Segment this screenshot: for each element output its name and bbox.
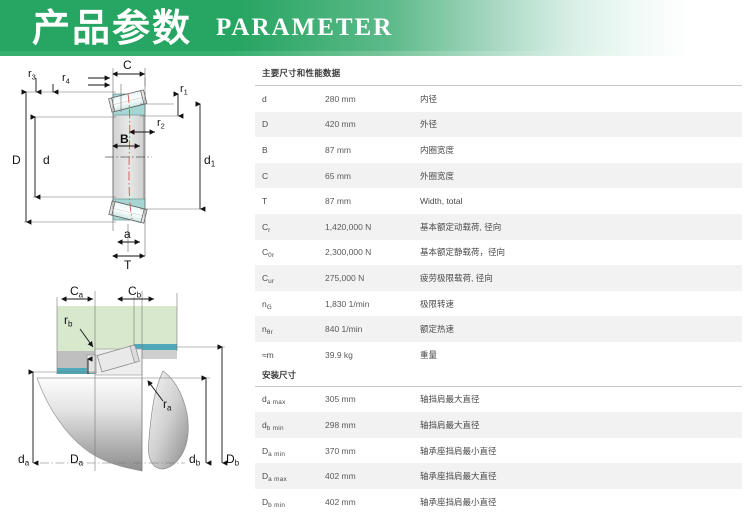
spec-description: 额定热速 <box>420 323 742 335</box>
spec-symbol: Cur <box>255 273 325 283</box>
spec-row: ≈m39.9 kg重量 <box>255 342 742 368</box>
spec-description: 轴承座挡肩最小直径 <box>420 496 742 508</box>
spec-row: Cr1,420,000 N基本额定动载荷, 径向 <box>255 214 742 240</box>
label-r3: r3 <box>28 68 36 82</box>
spec-description: 内径 <box>420 93 742 105</box>
spec-symbol: C0r <box>255 247 325 257</box>
spec-description: 外圈宽度 <box>420 170 742 182</box>
spec-value: 402 mm <box>325 497 420 507</box>
spec-description: 疲劳极限载荷, 径向 <box>420 272 742 284</box>
spec-row: db min298 mm轴挡肩最大直径 <box>255 412 742 438</box>
label-db: db <box>189 452 201 468</box>
spec-description: 极限转速 <box>420 298 742 310</box>
spec-symbol: C <box>255 171 325 181</box>
page-header-banner: 产品参数 PARAMETER <box>0 0 750 56</box>
label-a: a <box>124 227 131 241</box>
spec-row: d280 mm内径 <box>255 86 742 112</box>
spec-section-title-mounting: 安装尺寸 <box>255 368 742 386</box>
spec-symbol: db min <box>255 420 325 430</box>
bearing-cross-section-drawing: r3 r4 C r1 r2 B D d d1 a T <box>0 56 250 271</box>
spec-symbol: Cr <box>255 222 325 232</box>
spec-row: C0r2,300,000 N基本额定静载荷，径向 <box>255 240 742 266</box>
spec-rows-mounting: da max305 mm轴挡肩最大直径db min298 mm轴挡肩最大直径Da… <box>255 387 742 515</box>
specification-table: 主要尺寸和性能数据 d280 mm内径D420 mm外径B87 mm内圈宽度C6… <box>255 62 742 515</box>
spec-description: 轴承座挡肩最小直径 <box>420 445 742 457</box>
spec-row: C65 mm外圈宽度 <box>255 163 742 189</box>
label-Ca: Ca <box>70 284 84 300</box>
spec-symbol: ≈m <box>255 350 325 360</box>
spec-row: T87 mmWidth, total <box>255 188 742 214</box>
spec-row: Cur275,000 N疲劳极限载荷, 径向 <box>255 265 742 291</box>
technical-drawings-panel: r3 r4 C r1 r2 B D d d1 a T <box>0 56 250 489</box>
spec-row: nθr840 1/min额定热速 <box>255 316 742 342</box>
spec-value: 87 mm <box>325 196 420 206</box>
spec-row: Da max402 mm轴承座挡肩最大直径 <box>255 463 742 489</box>
label-d1: d1 <box>204 153 216 169</box>
spec-value: 280 mm <box>325 94 420 104</box>
spec-symbol: T <box>255 196 325 206</box>
spec-row: nG1,830 1/min极限转速 <box>255 291 742 317</box>
spec-description: 轴挡肩最大直径 <box>420 393 742 405</box>
page-title-en: PARAMETER <box>216 15 393 42</box>
spec-row: Da min370 mm轴承座挡肩最小直径 <box>255 438 742 464</box>
label-C: C <box>123 58 132 72</box>
label-r2: r2 <box>157 117 165 131</box>
spec-rows-main: d280 mm内径D420 mm外径B87 mm内圈宽度C65 mm外圈宽度T8… <box>255 86 742 368</box>
spec-value: 65 mm <box>325 171 420 181</box>
mounting-dimensions-drawing: Ca Cb rb ra da Da db Db <box>0 271 250 489</box>
spec-description: Width, total <box>420 196 742 206</box>
label-r1: r1 <box>180 83 188 97</box>
spec-symbol: nG <box>255 299 325 309</box>
spec-description: 轴承座挡肩最大直径 <box>420 470 742 482</box>
label-d: d <box>43 153 50 167</box>
spec-symbol: da max <box>255 394 325 404</box>
spec-description: 重量 <box>420 349 742 361</box>
spec-row: D420 mm外径 <box>255 112 742 138</box>
label-T: T <box>124 258 132 271</box>
spec-description: 基本额定静载荷，径向 <box>420 246 742 258</box>
spec-value: 298 mm <box>325 420 420 430</box>
label-r4: r4 <box>62 72 70 86</box>
spec-value: 87 mm <box>325 145 420 155</box>
label-B: B <box>120 132 129 146</box>
label-da: da <box>18 452 30 468</box>
spec-value: 39.9 kg <box>325 350 420 360</box>
spec-section-title-main: 主要尺寸和性能数据 <box>255 62 742 85</box>
spec-symbol: nθr <box>255 324 325 334</box>
spec-symbol: d <box>255 94 325 104</box>
spec-symbol: D <box>255 119 325 129</box>
page-title-cn: 产品参数 <box>32 9 192 47</box>
spec-description: 内圈宽度 <box>420 144 742 156</box>
spec-value: 840 1/min <box>325 324 420 334</box>
spec-row: B87 mm内圈宽度 <box>255 137 742 163</box>
label-Cb: Cb <box>128 284 142 300</box>
spec-value: 370 mm <box>325 446 420 456</box>
spec-value: 420 mm <box>325 119 420 129</box>
spec-symbol: Da min <box>255 446 325 456</box>
spec-value: 275,000 N <box>325 273 420 283</box>
spec-symbol: Da max <box>255 471 325 481</box>
spec-value: 305 mm <box>325 394 420 404</box>
spec-description: 外径 <box>420 118 742 130</box>
label-D: D <box>12 153 21 167</box>
spec-value: 1,420,000 N <box>325 222 420 232</box>
spec-value: 2,300,000 N <box>325 247 420 257</box>
spec-value: 1,830 1/min <box>325 299 420 309</box>
spec-description: 基本额定动载荷, 径向 <box>420 221 742 233</box>
spec-value: 402 mm <box>325 471 420 481</box>
spec-symbol: Db min <box>255 497 325 507</box>
spec-symbol: B <box>255 145 325 155</box>
label-Db: Db <box>226 452 240 468</box>
spec-row: da max305 mm轴挡肩最大直径 <box>255 387 742 413</box>
spec-row: Db min402 mm轴承座挡肩最小直径 <box>255 489 742 515</box>
spec-description: 轴挡肩最大直径 <box>420 419 742 431</box>
label-Da: Da <box>70 452 84 468</box>
